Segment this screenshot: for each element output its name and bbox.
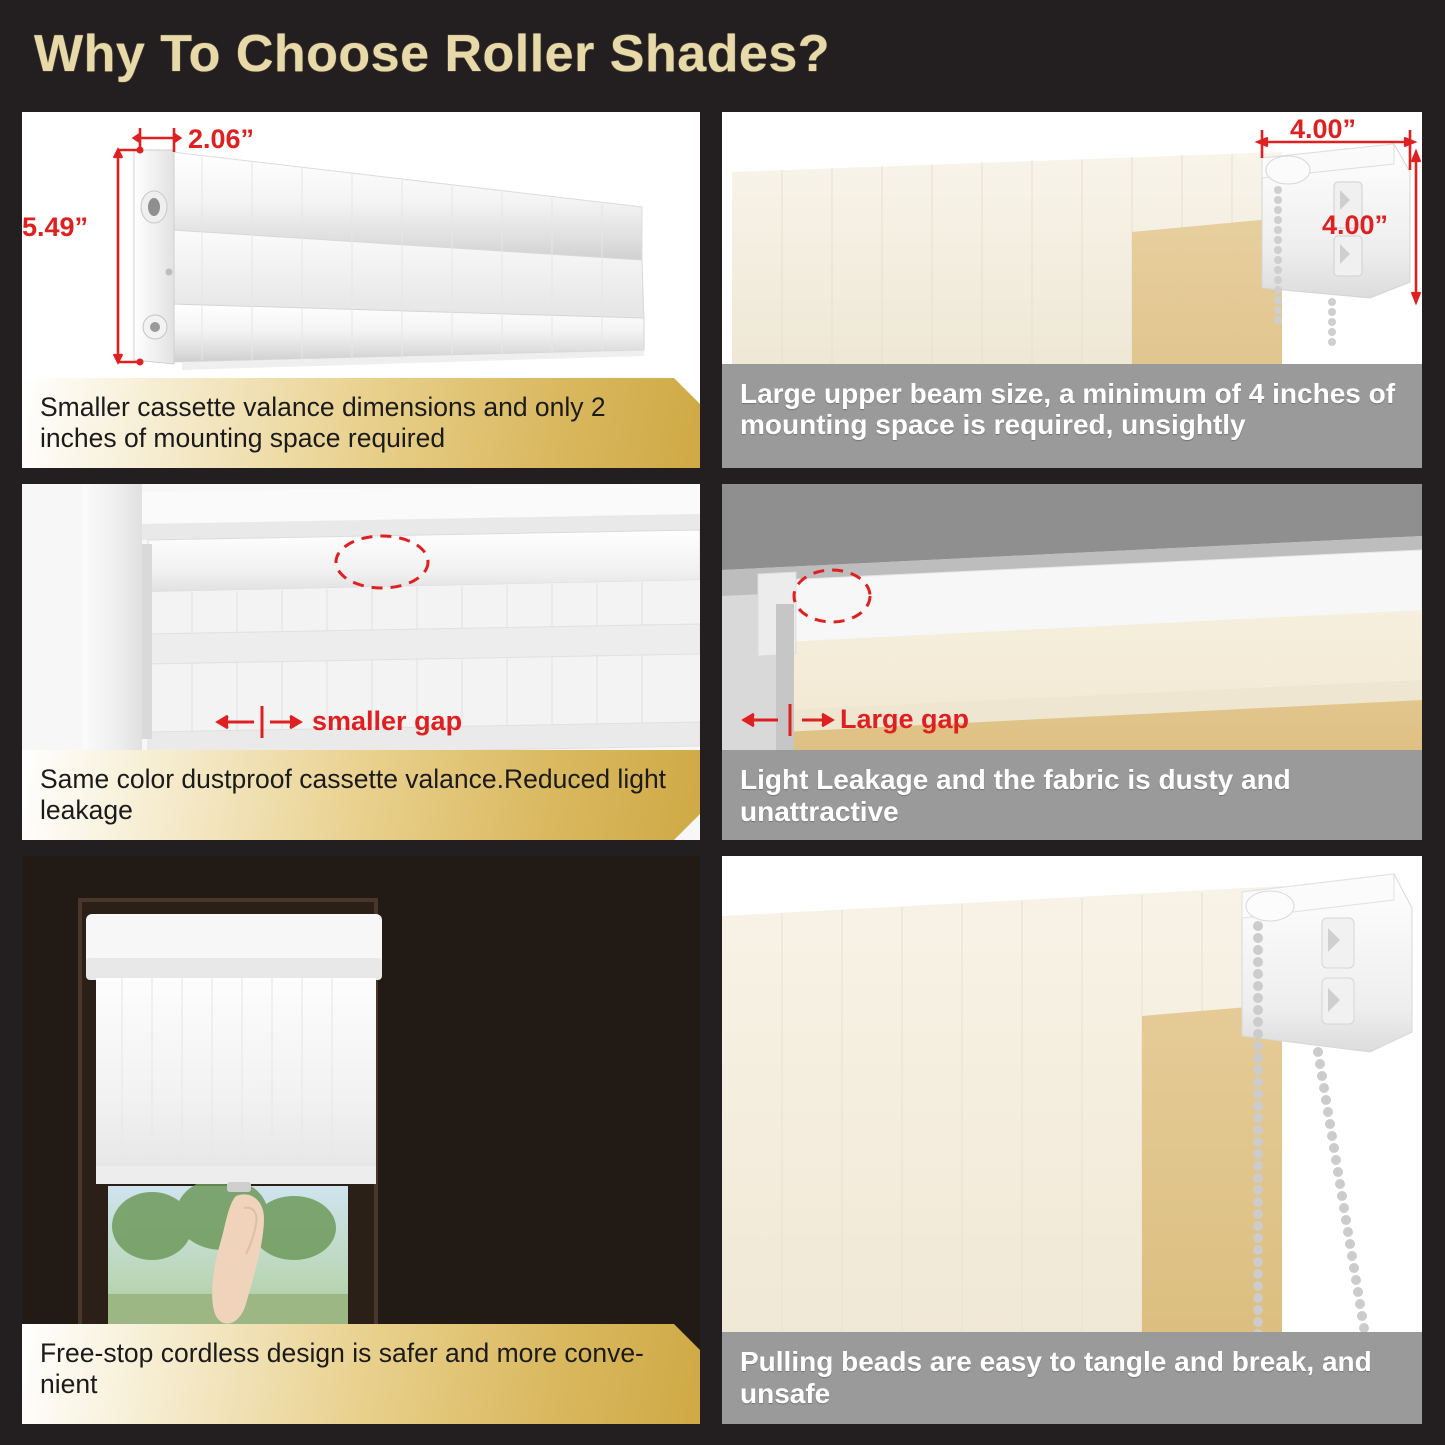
panel-1-height-label: 5.49” bbox=[22, 212, 88, 243]
panel-bottom-right: Pulling beads are easy to tangle and bre… bbox=[722, 856, 1422, 1424]
panel-1-caption: Smaller cassette valance dimensions and … bbox=[22, 378, 700, 468]
panel-4-gap-label: Large gap bbox=[840, 704, 969, 735]
page-title: Why To Choose Roller Shades? bbox=[34, 24, 830, 84]
panel-3-gap-label: smaller gap bbox=[312, 706, 462, 737]
panel-2-width-label: 4.00” bbox=[1290, 114, 1356, 145]
panel-2-height-label: 4.00” bbox=[1322, 210, 1388, 241]
panel-5-caption: Free-stop cordless design is safer and m… bbox=[22, 1324, 700, 1424]
infographic-page: Why To Choose Roller Shades? bbox=[0, 0, 1445, 1445]
panel-top-right: 4.00” 4.00” Large upper beam size, a min… bbox=[722, 112, 1422, 468]
panel-1-width-label: 2.06” bbox=[188, 124, 254, 155]
panel-6-caption: Pulling beads are easy to tangle and bre… bbox=[722, 1332, 1422, 1424]
panel-bottom-left: Free-stop cordless design is safer and m… bbox=[22, 856, 700, 1424]
panel-middle-right: Large gap Light Leakage and the fabric i… bbox=[722, 484, 1422, 840]
panel-2-caption: Large upper beam size, a minimum of 4 in… bbox=[722, 364, 1422, 468]
panel-middle-left: smaller gap Same color dustproof cassett… bbox=[22, 484, 700, 840]
panel-3-caption: Same color dustproof cassette valance.Re… bbox=[22, 750, 700, 840]
panel-top-left: 2.06” 5.49” Smaller cassette valance dim… bbox=[22, 112, 700, 468]
panel-4-caption: Light Leakage and the fabric is dusty an… bbox=[722, 750, 1422, 840]
